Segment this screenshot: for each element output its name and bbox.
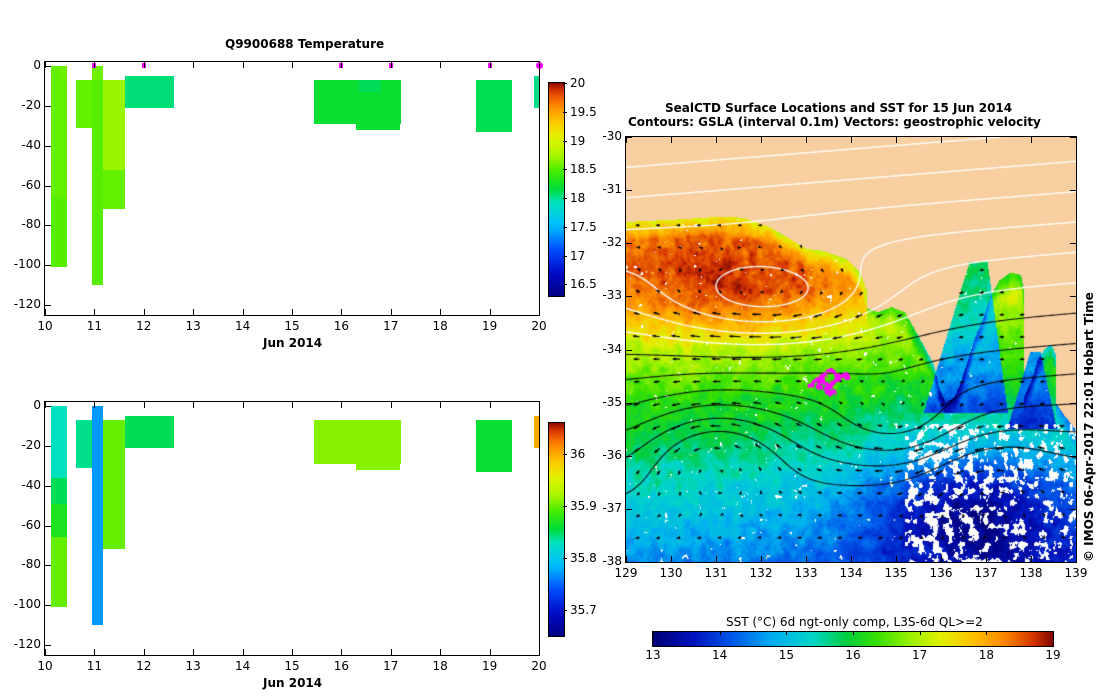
colorbar-tick-label: 18 (570, 192, 585, 204)
map-x-tick (671, 137, 672, 143)
map-y-tick (626, 243, 632, 244)
map-y-tick (626, 509, 632, 510)
y-tick-label: -120 (3, 297, 41, 311)
y-tick-label: 0 (3, 58, 41, 72)
y-tick-label: 0 (3, 398, 41, 412)
x-tick-label: 17 (383, 659, 399, 673)
x-tick-label: 13 (185, 659, 201, 673)
sst-colorbar-label: SST (°C) 6d ngt-only comp, L3S-6d QL>=2 (726, 615, 983, 629)
map-y-tick (1070, 190, 1076, 191)
y-tick-label: -20 (3, 98, 41, 112)
map-x-tick (986, 137, 987, 143)
x-tick (45, 309, 46, 315)
x-tick-top (193, 402, 194, 408)
y-tick (45, 265, 51, 266)
sst-colorbar-tick-label: 15 (771, 649, 801, 661)
map-x-tick (761, 137, 762, 143)
map-x-tick (761, 556, 762, 562)
x-tick-top (144, 402, 145, 408)
x-tick (539, 309, 540, 315)
y-tick (45, 446, 51, 447)
x-tick (490, 649, 491, 655)
map-y-tick-label: -38 (593, 554, 622, 568)
x-tick (94, 649, 95, 655)
x-tick (144, 309, 145, 315)
y-tick-label: -40 (3, 478, 41, 492)
x-tick-top (391, 62, 392, 68)
colorbar-tick-label: 20 (570, 77, 585, 89)
colorbar-tick (563, 558, 567, 559)
x-tick-label: 11 (86, 659, 102, 673)
x-tick-top (94, 62, 95, 68)
map-x-tick-label: 137 (971, 566, 1001, 580)
y-tick (45, 66, 51, 67)
sst-colorbar-tick-label: 16 (838, 649, 868, 661)
map-x-tick (896, 137, 897, 143)
sst-colorbar-tick-label: 14 (705, 649, 735, 661)
y-tick-label: -100 (3, 257, 41, 271)
map-x-tick-label: 133 (791, 566, 821, 580)
x-tick-top (341, 402, 342, 408)
x-tick-top (243, 62, 244, 68)
y-tick (45, 565, 51, 566)
x-tick (94, 309, 95, 315)
x-tick-label: 10 (37, 659, 53, 673)
colorbar-tick-label: 19.5 (570, 106, 597, 118)
y-tick (45, 605, 51, 606)
y-tick (45, 406, 51, 407)
y-tick-label: -60 (3, 518, 41, 532)
map-y-tick (626, 562, 632, 563)
x-tick-top (440, 62, 441, 68)
y-tick-label: -40 (3, 138, 41, 152)
map-y-tick (1070, 137, 1076, 138)
y-tick (45, 186, 51, 187)
x-tick-top (440, 402, 441, 408)
x-tick-top (391, 402, 392, 408)
map-y-tick (626, 350, 632, 351)
map-x-tick (806, 556, 807, 562)
x-tick-top (490, 62, 491, 68)
map-y-tick-label: -35 (593, 395, 622, 409)
salinity-xlabel: Jun 2014 (263, 676, 322, 690)
colorbar-tick (563, 454, 567, 455)
x-tick-label: 19 (482, 659, 498, 673)
map-y-tick (626, 403, 632, 404)
x-tick-label: 13 (185, 319, 201, 333)
map-y-tick-label: -36 (593, 448, 622, 462)
x-tick (292, 649, 293, 655)
imos-credit: © IMOS 06-Apr-2017 22:01 Hobart Time (1082, 292, 1096, 562)
x-tick (341, 309, 342, 315)
map-x-tick (896, 556, 897, 562)
map-x-tick (1031, 556, 1032, 562)
y-tick (45, 146, 51, 147)
map-y-tick (1070, 403, 1076, 404)
colorbar-tick-label: 17.5 (570, 221, 597, 233)
y-tick (45, 305, 51, 306)
y-tick (45, 526, 51, 527)
x-tick-top (490, 402, 491, 408)
map-x-tick-label: 139 (1061, 566, 1091, 580)
x-tick-label: 10 (37, 319, 53, 333)
x-tick-label: 16 (333, 319, 349, 333)
map-x-tick-label: 136 (926, 566, 956, 580)
colorbar-tick-label: 19 (570, 135, 585, 147)
map-y-tick (1070, 562, 1076, 563)
x-tick (539, 649, 540, 655)
sst-colorbar-tick (653, 631, 654, 635)
x-tick-label: 15 (284, 319, 300, 333)
x-tick-top (243, 402, 244, 408)
map-x-tick-label: 134 (836, 566, 866, 580)
sst-colorbar-tick (1053, 631, 1054, 635)
x-tick-label: 14 (235, 659, 251, 673)
x-tick-top (539, 62, 540, 68)
map-y-tick (626, 137, 632, 138)
map-x-tick-label: 135 (881, 566, 911, 580)
colorbar-tick (563, 610, 567, 611)
sst-colorbar-tick-label: 17 (905, 649, 935, 661)
colorbar-tick-label: 17 (570, 250, 585, 262)
x-tick-top (539, 402, 540, 408)
map-y-tick (1070, 296, 1076, 297)
y-tick (45, 486, 51, 487)
x-tick (440, 649, 441, 655)
x-tick-label: 12 (136, 659, 152, 673)
colorbar-tick (563, 227, 567, 228)
map-x-tick (716, 556, 717, 562)
x-tick-label: 18 (432, 659, 448, 673)
map-x-tick (1031, 137, 1032, 143)
map-x-tick (941, 556, 942, 562)
x-tick-label: 17 (383, 319, 399, 333)
sst-colorbar-tick (786, 631, 787, 635)
salinity-axes: 10111213141516171819200-20-40-60-80-100-… (0, 345, 600, 700)
x-tick-label: 16 (333, 659, 349, 673)
colorbar-tick (563, 112, 567, 113)
colorbar-tick (563, 198, 567, 199)
map-x-tick-label: 130 (656, 566, 686, 580)
colorbar-tick-label: 35.7 (570, 604, 597, 616)
sst-colorbar-tick (986, 631, 987, 635)
y-tick (45, 225, 51, 226)
x-tick-top (292, 402, 293, 408)
x-tick (391, 309, 392, 315)
y-tick-label: -20 (3, 438, 41, 452)
map-y-tick-label: -33 (593, 288, 622, 302)
colorbar-tick-label: 18.5 (570, 163, 597, 175)
x-tick-top (94, 402, 95, 408)
colorbar-tick (563, 506, 567, 507)
sst-colorbar-tick (720, 631, 721, 635)
map-y-tick (1070, 243, 1076, 244)
x-tick-top (144, 62, 145, 68)
map-y-tick-label: -32 (593, 235, 622, 249)
y-tick-label: -60 (3, 178, 41, 192)
map-y-tick (626, 296, 632, 297)
x-tick (391, 649, 392, 655)
x-tick (144, 649, 145, 655)
map-y-tick-label: -34 (593, 342, 622, 356)
map-x-tick-label: 132 (746, 566, 776, 580)
map-x-tick (806, 137, 807, 143)
temperature-colorbar (548, 82, 565, 297)
sst-colorbar-tick (920, 631, 921, 635)
x-tick (243, 649, 244, 655)
y-tick-label: -80 (3, 217, 41, 231)
temperature-axes: 10111213141516171819200-20-40-60-80-100-… (0, 0, 600, 355)
colorbar-tick (563, 141, 567, 142)
colorbar-tick-label: 36 (570, 448, 585, 460)
map-y-tick-label: -37 (593, 501, 622, 515)
map-y-tick-label: -30 (593, 129, 622, 143)
map-x-tick (851, 137, 852, 143)
x-tick (243, 309, 244, 315)
y-tick (45, 106, 51, 107)
y-tick-label: -100 (3, 597, 41, 611)
map-x-tick (1076, 556, 1077, 562)
x-tick (341, 649, 342, 655)
map-y-tick (1070, 509, 1076, 510)
sst-colorbar-tick (853, 631, 854, 635)
salinity-panel: 10111213141516171819200-20-40-60-80-100-… (0, 345, 600, 700)
map-x-tick (716, 137, 717, 143)
colorbar-tick (563, 284, 567, 285)
colorbar-tick (563, 256, 567, 257)
map-x-tick-label: 131 (701, 566, 731, 580)
map-x-tick (671, 556, 672, 562)
map-y-tick (626, 190, 632, 191)
x-tick-label: 20 (531, 319, 547, 333)
map-x-tick-label: 138 (1016, 566, 1046, 580)
x-tick (292, 309, 293, 315)
sst-colorbar-tick-label: 13 (638, 649, 668, 661)
y-tick (45, 645, 51, 646)
map-y-tick-label: -31 (593, 182, 622, 196)
temperature-panel: Q9900688 Temperature 1011121314151617181… (0, 0, 600, 355)
map-axes: 129130131132133134135136137138139-30-31-… (595, 0, 1099, 700)
x-tick-top (193, 62, 194, 68)
x-tick (45, 649, 46, 655)
colorbar-tick (563, 83, 567, 84)
x-tick (193, 309, 194, 315)
sst-colorbar-tick-label: 19 (1038, 649, 1068, 661)
x-tick-label: 18 (432, 319, 448, 333)
map-x-tick (851, 556, 852, 562)
map-x-tick (941, 137, 942, 143)
x-tick-top (341, 62, 342, 68)
map-y-tick (1070, 456, 1076, 457)
map-x-tick (986, 556, 987, 562)
x-tick (440, 309, 441, 315)
x-tick-top (292, 62, 293, 68)
map-y-tick (626, 456, 632, 457)
x-tick-label: 11 (86, 319, 102, 333)
map-y-tick (1070, 350, 1076, 351)
x-tick-label: 19 (482, 319, 498, 333)
y-tick-label: -80 (3, 557, 41, 571)
x-tick (193, 649, 194, 655)
x-tick-label: 12 (136, 319, 152, 333)
map-panel: SealCTD Surface Locations and SST for 15… (595, 0, 1099, 700)
map-x-tick-label: 129 (611, 566, 641, 580)
x-tick-label: 20 (531, 659, 547, 673)
colorbar-tick (563, 169, 567, 170)
map-x-tick (1076, 137, 1077, 143)
x-tick (490, 309, 491, 315)
sst-colorbar-tick-label: 18 (971, 649, 1001, 661)
x-tick-label: 15 (284, 659, 300, 673)
y-tick-label: -120 (3, 637, 41, 651)
x-tick-label: 14 (235, 319, 251, 333)
